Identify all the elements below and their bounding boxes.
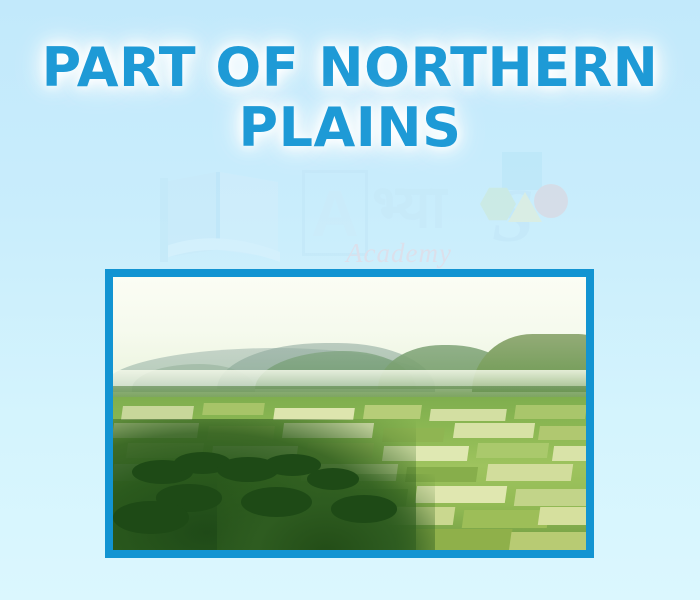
landscape-photo [113,277,586,550]
photo-frame [105,269,594,558]
poster-title: PART OF NORTHERN PLAINS [0,38,700,158]
hexagon-shape-icon [480,186,516,222]
watermark-tagline: Academy [346,238,452,269]
circle-shape-icon [534,184,568,218]
triangle-shape-icon [508,192,542,222]
watermark-letter-s: S [492,178,534,254]
watermark-devanagari: भ्या [372,174,445,240]
watermark-letter-a: A [302,170,368,256]
title-line-1: PART OF NORTHERN [0,38,700,98]
open-book-icon [158,166,288,266]
poster-canvas: A भ्या S Academy TM PART OF NORTHERN PLA… [0,0,700,600]
title-line-2: PLAINS [0,98,700,158]
watermark-logo: A भ्या S Academy TM [150,152,570,282]
